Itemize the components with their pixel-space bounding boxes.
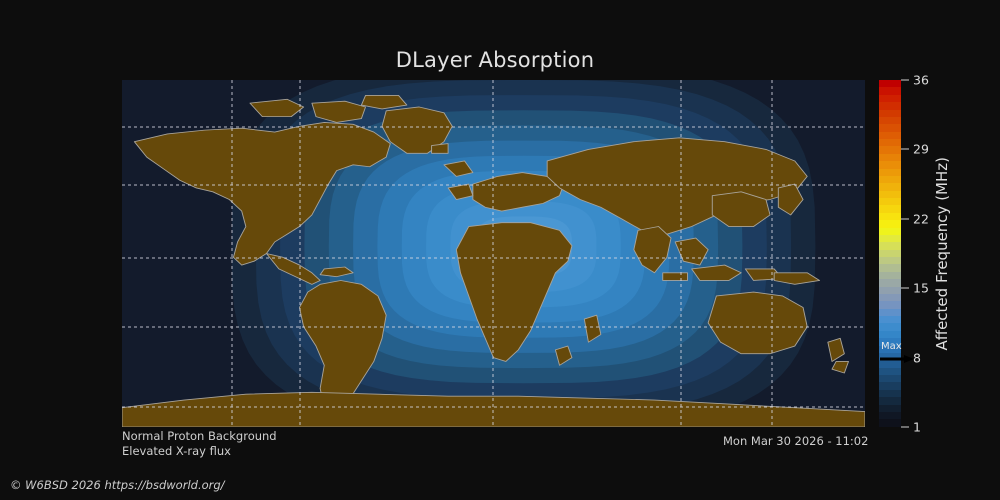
colorbar-band <box>879 154 901 161</box>
colorbar-band <box>879 198 901 205</box>
colorbar-band <box>879 235 901 242</box>
colorbar-band <box>879 309 901 316</box>
colorbar-band <box>879 250 901 257</box>
colorbar-band <box>879 183 901 190</box>
colorbar-band <box>879 242 901 249</box>
colorbar-band <box>879 80 901 87</box>
colorbar <box>879 80 901 427</box>
colorbar-tick: 15 <box>901 281 929 296</box>
graticule-gridlines <box>122 80 865 427</box>
colorbar-band <box>879 331 901 338</box>
colorbar-band <box>879 220 901 227</box>
status-captions: Normal Proton Background Elevated X-ray … <box>122 429 277 459</box>
timestamp: Mon Mar 30 2026 - 11:02 <box>723 434 868 448</box>
colorbar-band <box>879 375 901 382</box>
tick-dash <box>901 149 909 150</box>
tick-label: 1 <box>913 420 921 435</box>
tick-dash <box>901 80 909 81</box>
tick-label: 36 <box>913 73 929 88</box>
colorbar-tick: 36 <box>901 73 929 88</box>
dlayer-absorption-screen: DLayer Absorption <box>0 0 1000 500</box>
colorbar-band <box>879 287 901 294</box>
colorbar-band <box>879 412 901 419</box>
colorbar-band <box>879 117 901 124</box>
tick-dash <box>901 427 909 428</box>
colorbar-band <box>879 169 901 176</box>
colorbar-tick: 29 <box>901 142 929 157</box>
caption-proton-background: Normal Proton Background <box>122 429 277 444</box>
colorbar-band <box>879 294 901 301</box>
colorbar-band <box>879 397 901 404</box>
colorbar-band <box>879 272 901 279</box>
tick-label: 15 <box>913 281 929 296</box>
colorbar-band <box>879 161 901 168</box>
colorbar-band <box>879 419 901 426</box>
colorbar-tick: 22 <box>901 211 929 226</box>
colorbar-band <box>879 264 901 271</box>
colorbar-band <box>879 323 901 330</box>
colorbar-band <box>879 368 901 375</box>
colorbar-band <box>879 228 901 235</box>
tick-dash <box>901 218 909 219</box>
colorbar-band <box>879 257 901 264</box>
colorbar-band <box>879 205 901 212</box>
tick-label: 29 <box>913 142 929 157</box>
colorbar-band <box>879 87 901 94</box>
colorbar-band <box>879 95 901 102</box>
colorbar-band <box>879 316 901 323</box>
max-marker-label: Max <box>881 341 902 352</box>
colorbar-band <box>879 405 901 412</box>
colorbar-tick: 1 <box>901 420 921 435</box>
colorbar-band <box>879 110 901 117</box>
colorbar-band <box>879 213 901 220</box>
colorbar-band <box>879 382 901 389</box>
page-title: DLayer Absorption <box>0 48 990 72</box>
colorbar-band <box>879 102 901 109</box>
colorbar-band <box>879 139 901 146</box>
attribution-footer: © W6BSD 2026 https://bsdworld.org/ <box>10 478 225 492</box>
max-arrow-icon <box>880 355 916 363</box>
colorbar-band <box>879 176 901 183</box>
world-map[interactable] <box>122 80 865 427</box>
max-marker: Max <box>879 342 927 368</box>
colorbar-axis-label-text: Affected Frequency (MHz) <box>933 157 951 351</box>
colorbar-band <box>879 301 901 308</box>
tick-dash <box>901 288 909 289</box>
colorbar-band <box>879 146 901 153</box>
colorbar-axis-label: Affected Frequency (MHz) <box>930 80 954 427</box>
colorbar-band <box>879 124 901 131</box>
caption-xray-flux: Elevated X-ray flux <box>122 444 277 459</box>
colorbar-band <box>879 191 901 198</box>
colorbar-band <box>879 132 901 139</box>
colorbar-band <box>879 390 901 397</box>
tick-label: 22 <box>913 211 929 226</box>
colorbar-band <box>879 279 901 286</box>
